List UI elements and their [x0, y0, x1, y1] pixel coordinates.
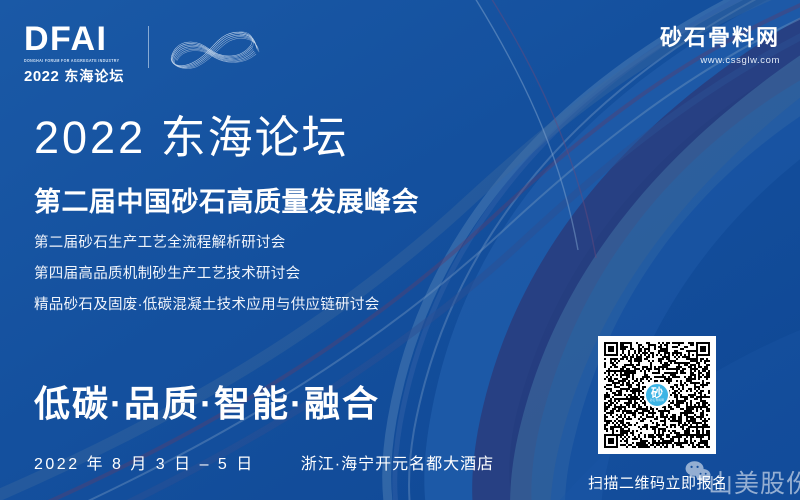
- page-title: 2022 东海论坛: [34, 112, 419, 164]
- title-year: 2022: [34, 112, 146, 163]
- header-divider: [148, 26, 149, 68]
- session-item: 第四届高品质机制砂生产工艺技术研讨会: [34, 265, 419, 283]
- qr-center-subtext: 砂石骨料网: [650, 400, 664, 403]
- event-venue: 浙江·海宁开元名都大酒店: [301, 450, 494, 474]
- slogan-text: 低碳·品质·智能·融合: [34, 375, 380, 427]
- dfai-name-cn: 东海论坛: [64, 66, 124, 86]
- page-subtitle: 第二届中国砂石高质量发展峰会: [34, 186, 419, 218]
- session-item: 精品砂石及固废·低碳混凝土技术应用与供应链研讨会: [34, 296, 419, 314]
- footer-line: 2022 年 8 月 3 日 – 5 日 浙江·海宁开元名都大酒店: [34, 450, 494, 474]
- dfai-year: 2022: [24, 68, 59, 85]
- dfai-subline: DONGHAI FORUM FOR AGGREGATE INDUSTRY: [24, 58, 136, 63]
- infinity-ribbon-icon: [166, 26, 266, 72]
- event-date: 2022 年 8 月 3 日 – 5 日: [34, 450, 255, 474]
- session-list: 第二届砂石生产工艺全流程解析研讨会 第四届高品质机制砂生产工艺技术研讨会 精品砂…: [34, 234, 419, 314]
- poster-canvas: DFAI DONGHAI FORUM FOR AGGREGATE INDUSTR…: [0, 0, 800, 500]
- dfai-year-row: 2022 东海论坛: [24, 66, 136, 86]
- watermark-text: 山美股份: [708, 464, 800, 500]
- cssglw-brand: 砂石骨料网 www.cssglw.com: [660, 26, 780, 66]
- qr-center-glyph: 砂: [651, 387, 663, 399]
- session-item: 第二届砂石生产工艺全流程解析研讨会: [34, 234, 419, 252]
- poster-header: DFAI DONGHAI FORUM FOR AGGREGATE INDUSTR…: [0, 0, 800, 92]
- qr-center-logo: 砂 砂石骨料网: [644, 382, 670, 408]
- main-copy: 2022 东海论坛 第二届中国砂石高质量发展峰会 第二届砂石生产工艺全流程解析研…: [34, 112, 419, 328]
- qr-code[interactable]: 砂 砂石骨料网: [598, 336, 716, 454]
- brand-url: www.cssglw.com: [660, 55, 780, 66]
- qr-caption-row: 扫描二维码立即报名 山美股份: [588, 464, 798, 494]
- title-name-cn: 东海论坛: [161, 112, 349, 163]
- qr-zone: 砂 砂石骨料网 扫描二维码立即报名 山美股份: [588, 336, 798, 494]
- dfai-wordmark: DFAI: [24, 22, 136, 56]
- brand-name-cn: 砂石骨料网: [660, 26, 780, 50]
- dfai-logo: DFAI DONGHAI FORUM FOR AGGREGATE INDUSTR…: [24, 22, 136, 86]
